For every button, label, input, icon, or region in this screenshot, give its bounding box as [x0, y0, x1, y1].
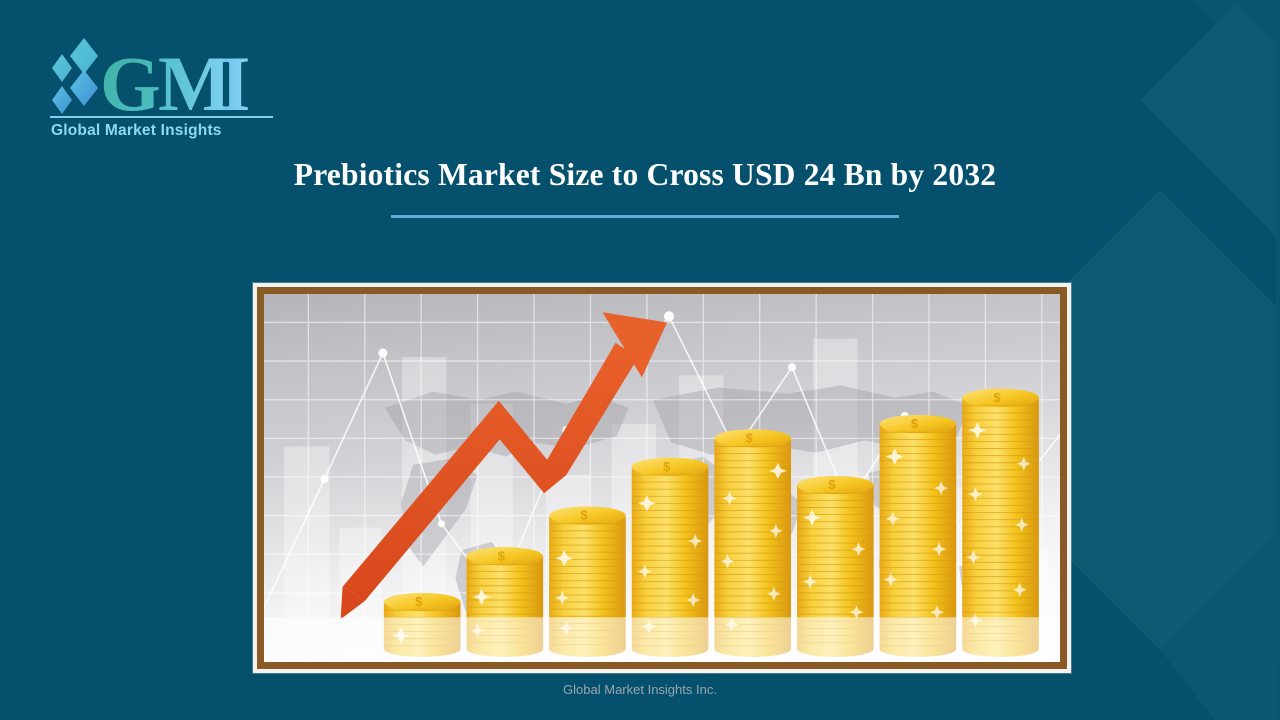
page-title: Prebiotics Market Size to Cross USD 24 B… — [265, 152, 1025, 197]
svg-text:$: $ — [415, 594, 423, 609]
growth-chart-illustration: $ — [264, 294, 1060, 662]
svg-text:$: $ — [911, 416, 919, 431]
slide-canvas: G M I Global Market Insights Prebiotics … — [0, 0, 1280, 720]
logo-tagline: Global Market Insights — [51, 122, 222, 139]
coin-stack-8: $ — [962, 389, 1039, 657]
svg-text:$: $ — [498, 548, 506, 563]
svg-text:$: $ — [828, 477, 836, 492]
logo-diamonds-icon — [52, 38, 98, 114]
figure-frame-inner: $ — [257, 287, 1067, 669]
logo-divider — [50, 116, 273, 118]
svg-text:$: $ — [993, 390, 1001, 405]
svg-text:I: I — [220, 40, 248, 127]
svg-text:$: $ — [580, 508, 588, 523]
svg-text:$: $ — [746, 430, 754, 445]
figure-frame: $ — [253, 283, 1071, 673]
svg-text:G: G — [100, 40, 159, 127]
figure-caption: Global Market Insights Inc. — [0, 682, 1280, 697]
title-underline-rule — [391, 215, 899, 218]
svg-text:$: $ — [663, 459, 671, 474]
gmi-logo[interactable]: G M I Global Market Insights — [40, 30, 290, 140]
logo-wordmark-icon: G M I — [100, 40, 248, 127]
title-block: Prebiotics Market Size to Cross USD 24 B… — [265, 152, 1025, 218]
